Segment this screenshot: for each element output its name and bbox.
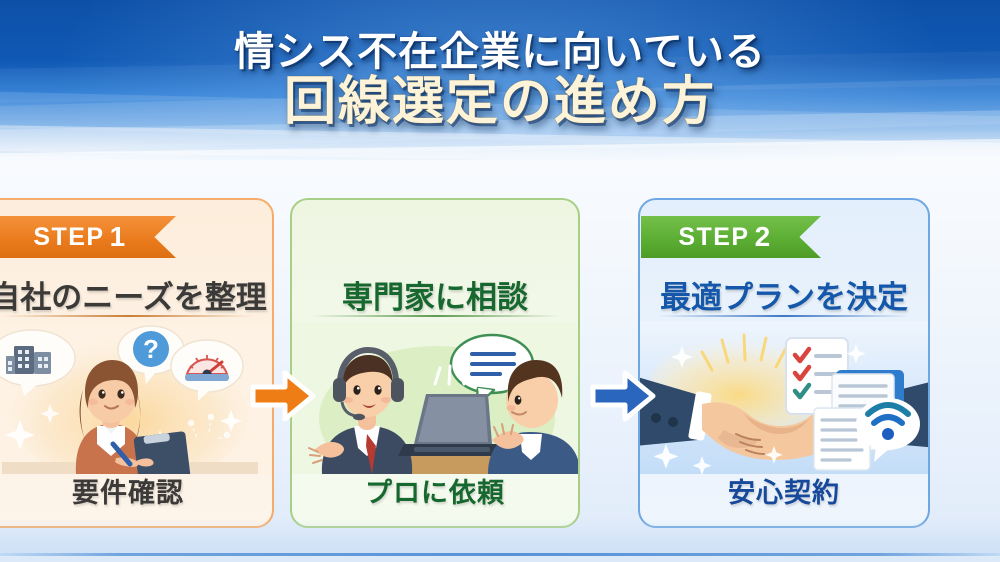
step-1-badge-label: STEP	[33, 223, 104, 252]
right-arrow-icon	[249, 368, 317, 424]
step-1-badge: STEP 1	[0, 216, 176, 258]
infographic-root: 情シス不在企業に向いている 回線選定の進め方	[0, 0, 1000, 562]
svg-text:?: ?	[143, 334, 159, 364]
step-1-divider	[2, 315, 253, 317]
handshake-illustration	[640, 322, 928, 474]
header-banner: 情シス不在企業に向いている 回線選定の進め方	[0, 0, 1000, 160]
step-card-1[interactable]: ?	[0, 198, 274, 528]
step-3-title: 最適プランを決定	[638, 272, 930, 317]
bottom-haze	[0, 519, 1000, 553]
step-2-illustration	[292, 322, 578, 474]
arrow-step2-to-step3	[589, 368, 657, 424]
step-1-title: 自社のニーズを整理	[0, 272, 274, 317]
right-arrow-icon	[589, 368, 657, 424]
clipboard-icon	[133, 431, 190, 474]
consultant-and-client-illustration	[292, 322, 578, 474]
step-2-badge-label: STEP	[678, 223, 749, 252]
step-2-title: 専門家に相談	[290, 272, 580, 317]
step-card-2[interactable]: STEP 2 専門家に相談 プロに依頼	[290, 198, 580, 528]
step-1-caption: 要件確認	[0, 471, 274, 510]
step-3-illustration	[640, 322, 928, 474]
step-2-caption: プロに依頼	[290, 471, 580, 510]
header-title-line-2: 回線選定の進め方	[284, 75, 716, 130]
step-2-badge-number: 2	[755, 221, 772, 253]
woman-with-clipboard-illustration: ?	[0, 322, 272, 474]
step-2-divider	[310, 315, 559, 317]
step-3-divider	[658, 315, 909, 317]
step-1-illustration: ?	[0, 322, 272, 474]
step-2-badge: STEP 2	[641, 216, 821, 258]
header-title-block: 情シス不在企業に向いている 回線選定の進め方	[0, 0, 1000, 160]
step-1-badge-number: 1	[110, 221, 127, 253]
bottom-accent-line	[0, 553, 1000, 556]
header-title-line-1: 情シス不在企業に向いている	[234, 31, 766, 73]
step-3-caption: 安心契約	[638, 471, 930, 510]
steps-row: ?	[0, 160, 1000, 562]
arrow-step1-to-step2	[249, 368, 317, 424]
